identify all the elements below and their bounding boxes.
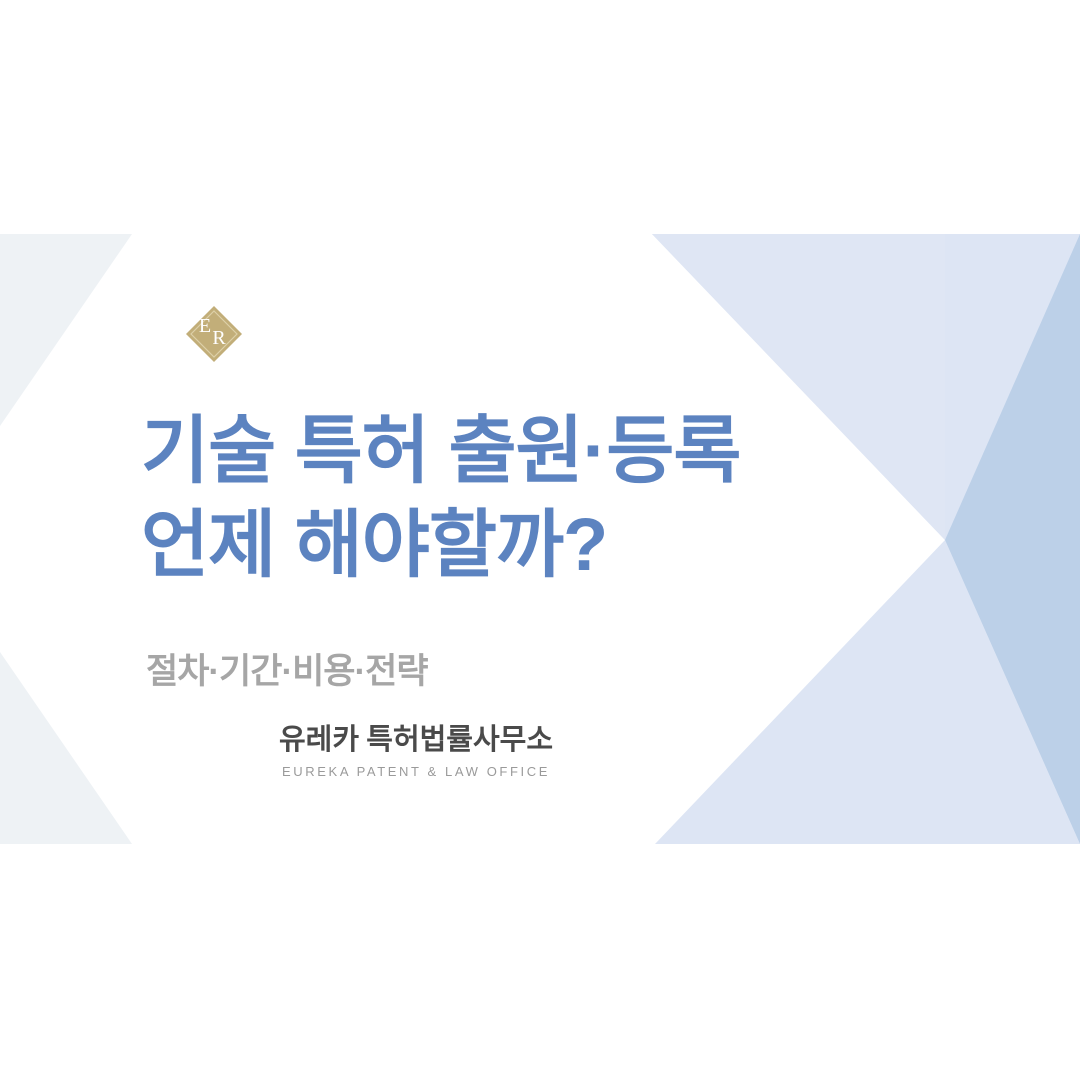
eureka-diamond-logo: E R xyxy=(185,305,243,363)
brand-signature: 유레카 특허법률사무소 EUREKA PATENT & LAW OFFICE xyxy=(141,722,691,783)
page-title-line-2: 언제 해야할까? xyxy=(141,498,901,592)
brand-name-english: EUREKA PATENT & LAW OFFICE xyxy=(141,761,691,783)
brand-name-korean: 유레카 특허법률사무소 xyxy=(141,722,691,758)
left-chevron-upper-triangle xyxy=(0,234,132,426)
logo-letter-r: R xyxy=(212,327,226,349)
diamond-logo-icon: E R xyxy=(185,305,243,363)
logo-letter-e: E xyxy=(199,315,211,337)
left-chevron-lower-triangle xyxy=(0,652,132,844)
page-subtitle: 절차·기간·비용·전략 xyxy=(146,650,428,694)
slide-canvas: E R 기술 특허 출원·등록 언제 해야할까? 절차·기간·비용·전략 유레카… xyxy=(0,0,1080,1080)
page-title-line-1: 기술 특허 출원·등록 xyxy=(141,404,901,498)
page-title: 기술 특허 출원·등록 언제 해야할까? xyxy=(141,404,901,592)
